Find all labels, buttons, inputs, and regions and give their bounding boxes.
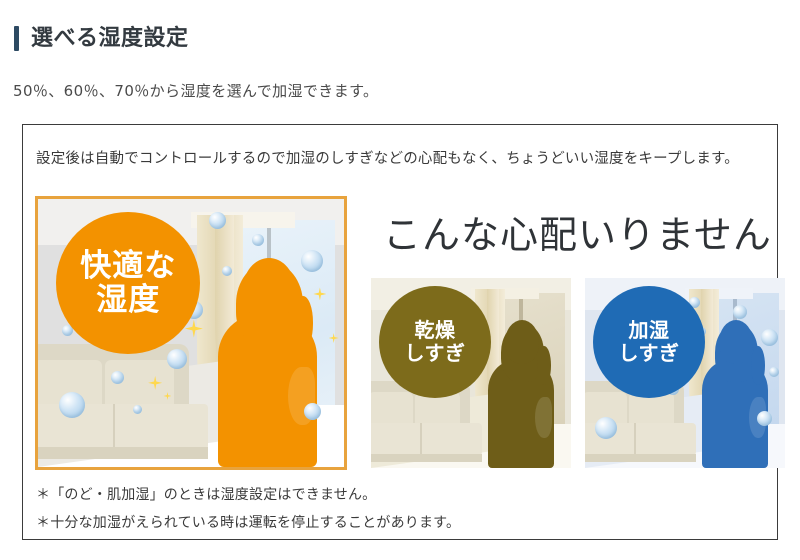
sofa-base <box>585 454 696 462</box>
moisture-bubble <box>111 371 124 384</box>
figure-row: こんな心配いりません <box>35 196 765 470</box>
badge-line-2: しすぎ <box>404 342 465 364</box>
moisture-bubble <box>252 234 264 246</box>
panel-comfortable-humidity: 快適な 湿度 <box>35 196 347 470</box>
person-silhouette <box>216 258 320 467</box>
silhouette-head <box>505 320 539 364</box>
silhouette-ponytail <box>751 346 765 385</box>
page-heading: 選べる湿度設定 <box>14 26 189 51</box>
silhouette-head <box>243 258 295 321</box>
moisture-bubble <box>167 349 187 369</box>
silhouette-ponytail <box>537 346 551 385</box>
content-box: 設定後は自動でコントロールするので加湿のしすぎなどの心配もなく、ちょうどいい湿度… <box>22 124 778 540</box>
silhouette-head <box>719 320 753 364</box>
panel-too-dry: 乾燥 しすぎ <box>371 278 571 468</box>
sofa-seat-divider <box>113 404 115 450</box>
badge-too-humid: 加湿 しすぎ <box>593 286 705 398</box>
person-silhouette <box>487 320 555 468</box>
heading-accent-bar <box>14 26 19 51</box>
footnote-item: ＊「のど・肌加湿」のときは湿度設定はできません。 <box>36 481 736 509</box>
footnote-item: ＊十分な加湿がえられている時は運転を停止することがあります。 <box>36 509 736 537</box>
page-subtitle: 50％、60％、70％から湿度を選んで加湿できます。 <box>13 80 378 101</box>
moisture-bubble <box>222 266 232 276</box>
person-silhouette <box>701 320 769 468</box>
page-title: 選べる湿度設定 <box>31 28 189 50</box>
sofa-base <box>371 454 482 462</box>
moisture-bubble <box>757 411 772 426</box>
badge-line-1: 乾燥 <box>415 319 456 341</box>
badge-line-1: 快適な <box>80 249 176 284</box>
sofa-seat-divider <box>634 423 636 456</box>
badge-too-dry: 乾燥 しすぎ <box>379 286 491 398</box>
badge-line-1: 加湿 <box>629 319 670 341</box>
badge-comfortable-humidity: 快適な 湿度 <box>56 212 200 354</box>
badge-line-2: 湿度 <box>96 283 160 318</box>
silhouette-arm <box>535 397 553 438</box>
moisture-bubble <box>595 417 617 439</box>
intro-paragraph: 設定後は自動でコントロールするので加湿のしすぎなどの心配もなく、ちょうどいい湿度… <box>36 145 754 174</box>
sofa-seat-divider <box>420 423 422 456</box>
sofa-seat <box>371 423 482 456</box>
moisture-bubble <box>301 250 323 272</box>
badge-line-2: しすぎ <box>618 342 679 364</box>
moisture-bubble <box>304 403 321 420</box>
moisture-bubble <box>733 305 747 319</box>
panel-too-humid: 加湿 しすぎ <box>585 278 785 468</box>
figure-headline: こんな心配いりません <box>383 204 772 259</box>
sofa-base <box>38 447 208 459</box>
silhouette-ponytail <box>293 296 314 350</box>
footnotes: ＊「のど・肌加湿」のときは湿度設定はできません。 ＊十分な加湿がえられている時は… <box>36 481 736 537</box>
